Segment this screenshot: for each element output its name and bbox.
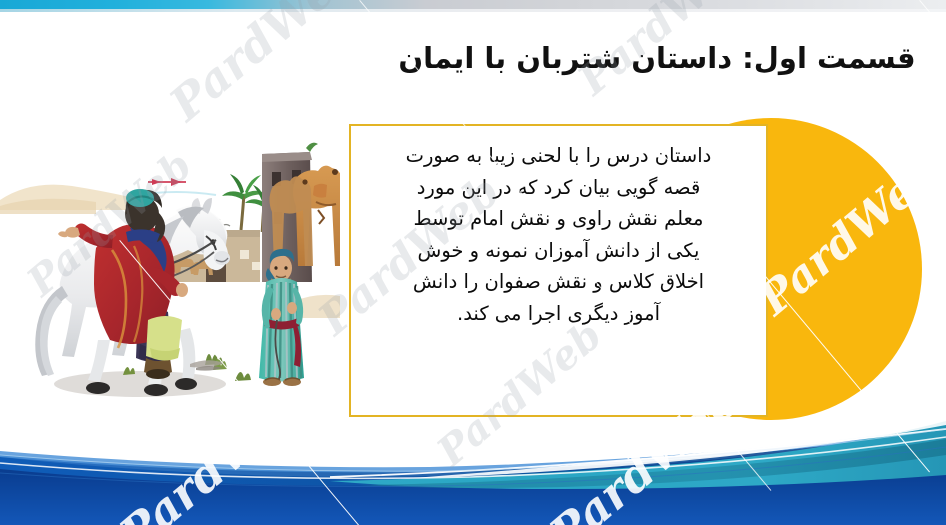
page-title: قسمت اول: داستان شتربان با ایمان: [392, 40, 922, 76]
story-text-line: داستان درس را با لحنی زیبا به صورت: [367, 140, 750, 172]
story-text-line: آموز دیگری اجرا می کند.: [367, 298, 750, 330]
top-accent-bar: [0, 0, 946, 9]
story-text-line: اخلاق کلاس و نقش صفوان را دانش: [367, 266, 750, 298]
story-text-box: داستان درس را با لحنی زیبا به صورت قصه گ…: [349, 124, 768, 417]
bottom-wave-decoration: [0, 415, 946, 525]
story-text-line: یکی از دانش آموزان نمونه و خوش: [367, 235, 750, 267]
presentation-slide: قسمت اول: داستان شتربان با ایمان: [0, 0, 946, 525]
story-illustration: [0, 82, 340, 412]
story-text-content: داستان درس را با لحنی زیبا به صورت قصه گ…: [351, 126, 766, 339]
story-text-line: معلم نقش راوی و نقش امام توسط: [367, 203, 750, 235]
top-accent-bar-shadow: [0, 9, 946, 12]
story-text-line: قصه گویی بیان کرد که در این مورد: [367, 172, 750, 204]
